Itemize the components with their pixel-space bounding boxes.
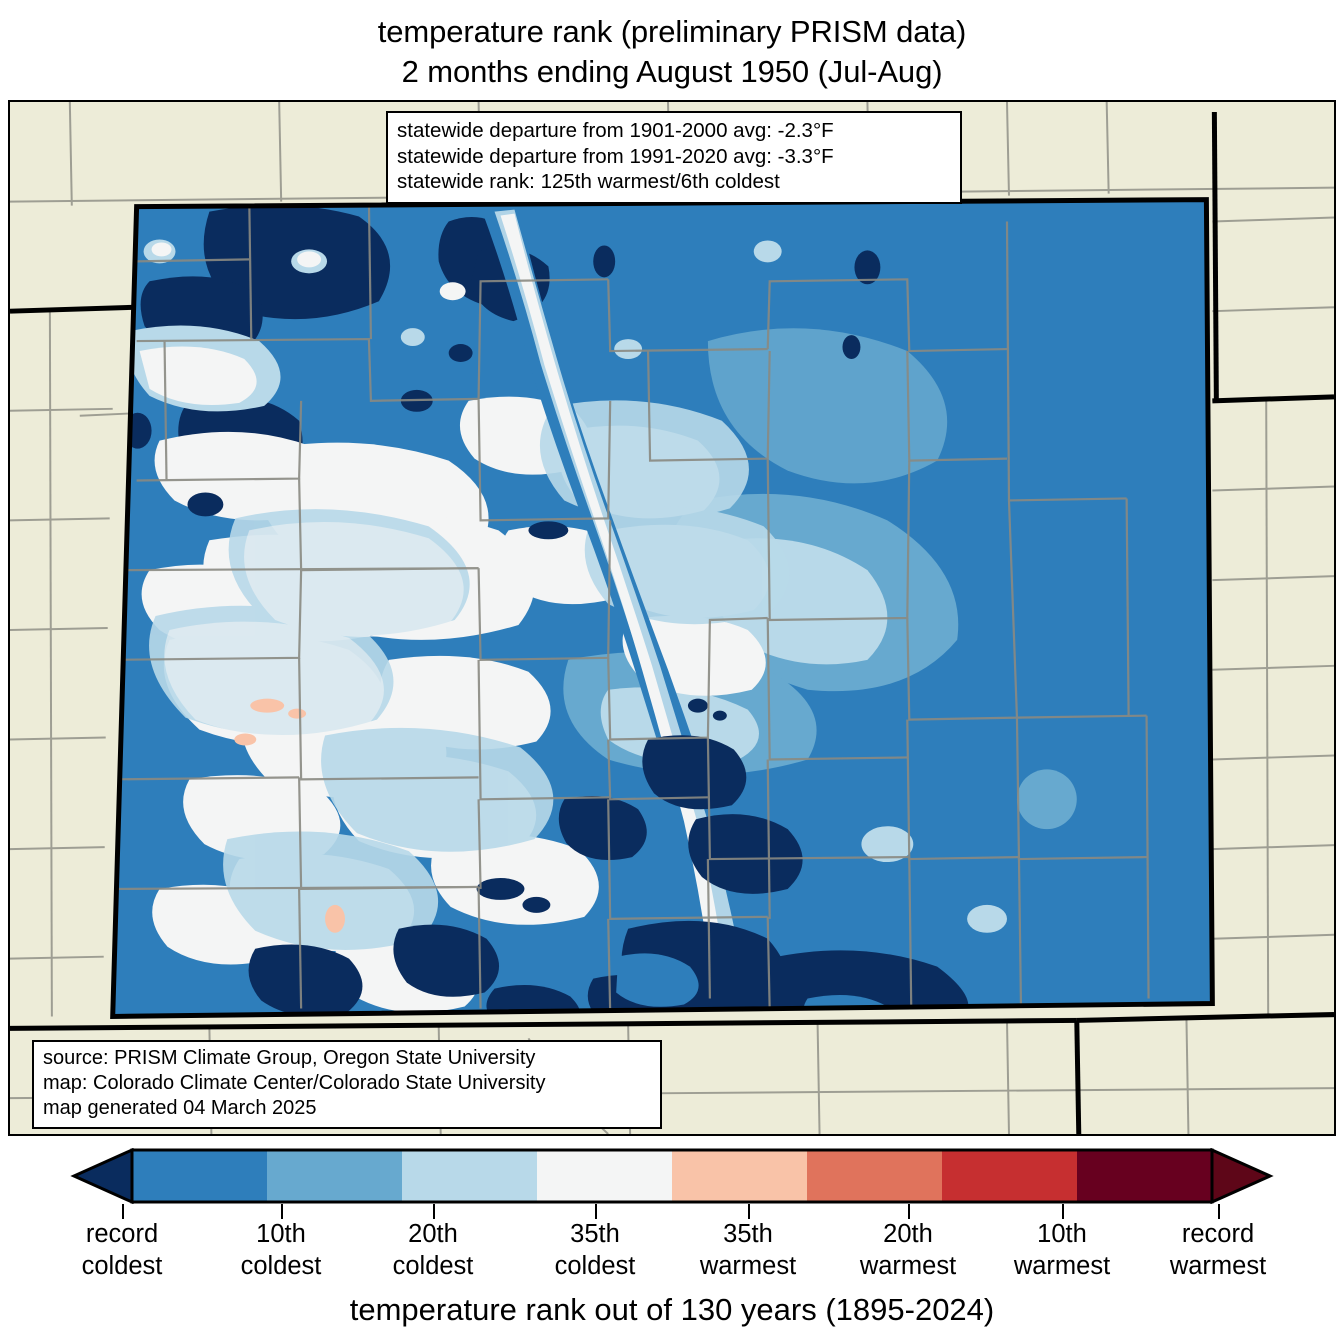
colorbar-label-7: recordwarmest bbox=[1133, 1218, 1303, 1282]
colorbar-label-bottom-0: coldest bbox=[37, 1250, 207, 1282]
colorbar-label-bottom-7: warmest bbox=[1133, 1250, 1303, 1282]
colorbar-label-top-3: 35th bbox=[510, 1218, 680, 1250]
colorbar-tick-labels: recordcoldest10thcoldest20thcoldest35thc… bbox=[0, 1218, 1344, 1288]
colorbar-swatch-0 bbox=[132, 1150, 268, 1202]
rank-raster bbox=[100, 192, 1227, 1029]
colorbar-label-bottom-1: coldest bbox=[196, 1250, 366, 1282]
map-credit-line: map: Colorado Climate Center/Colorado St… bbox=[43, 1071, 651, 1096]
colorbar-title: temperature rank out of 130 years (1895-… bbox=[0, 1292, 1344, 1328]
colorbar-swatch-2 bbox=[402, 1150, 538, 1202]
colorbar-tick-4 bbox=[748, 1204, 750, 1219]
colorbar-label-top-6: 10th bbox=[977, 1218, 1147, 1250]
colorbar-swatch-4 bbox=[672, 1150, 808, 1202]
colorbar-arrow-high bbox=[1212, 1150, 1270, 1202]
colorbar-label-top-4: 35th bbox=[663, 1218, 833, 1250]
colorbar-label-2: 20thcoldest bbox=[348, 1218, 518, 1282]
colorbar-swatch-3 bbox=[537, 1150, 673, 1202]
source-attribution-box: source: PRISM Climate Group, Oregon Stat… bbox=[32, 1040, 662, 1129]
colorbar-swatch-7 bbox=[1077, 1150, 1213, 1202]
colorbar-label-bottom-3: coldest bbox=[510, 1250, 680, 1282]
colorbar-label-bottom-2: coldest bbox=[348, 1250, 518, 1282]
colorbar-label-bottom-4: warmest bbox=[663, 1250, 833, 1282]
colorbar-label-bottom-5: warmest bbox=[823, 1250, 993, 1282]
colorbar-swatch-5 bbox=[807, 1150, 943, 1202]
colorbar-tick-6 bbox=[1062, 1204, 1064, 1219]
colorbar-tick-3 bbox=[595, 1204, 597, 1219]
departure-1991-2020: statewide departure from 1991-2020 avg: … bbox=[397, 144, 951, 170]
page-title: temperature rank (preliminary PRISM data… bbox=[0, 12, 1344, 92]
colorbar-tick-7 bbox=[1218, 1204, 1220, 1219]
title-line-1: temperature rank (preliminary PRISM data… bbox=[0, 12, 1344, 52]
colorbar-tick-1 bbox=[281, 1204, 283, 1219]
colorbar-label-6: 10thwarmest bbox=[977, 1218, 1147, 1282]
colorbar-label-4: 35thwarmest bbox=[663, 1218, 833, 1282]
statewide-stats-box: statewide departure from 1901-2000 avg: … bbox=[386, 111, 962, 204]
colorbar-label-5: 20thwarmest bbox=[823, 1218, 993, 1282]
colorbar-label-top-2: 20th bbox=[348, 1218, 518, 1250]
statewide-rank: statewide rank: 125th warmest/6th coldes… bbox=[397, 169, 951, 195]
colorbar-tick-5 bbox=[908, 1204, 910, 1219]
source-line: source: PRISM Climate Group, Oregon Stat… bbox=[43, 1046, 651, 1071]
colorado-temperature-rank-map[interactable] bbox=[10, 102, 1334, 1134]
title-line-2: 2 months ending August 1950 (Jul-Aug) bbox=[0, 52, 1344, 92]
colorbar-label-top-1: 10th bbox=[196, 1218, 366, 1250]
colorbar-label-top-0: record bbox=[37, 1218, 207, 1250]
colorbar-swatch-6 bbox=[942, 1150, 1078, 1202]
colorbar-label-0: recordcoldest bbox=[37, 1218, 207, 1282]
colorbar-arrow-low bbox=[74, 1150, 132, 1202]
map-frame[interactable] bbox=[8, 100, 1336, 1136]
colorbar-swatch-1 bbox=[267, 1150, 403, 1202]
map-generated-line: map generated 04 March 2025 bbox=[43, 1096, 651, 1121]
departure-1901-2000: statewide departure from 1901-2000 avg: … bbox=[397, 118, 951, 144]
colorbar-tick-2 bbox=[433, 1204, 435, 1219]
colorbar-legend: recordcoldest10thcoldest20thcoldest35thc… bbox=[0, 1148, 1344, 1332]
colorbar-tick-0 bbox=[122, 1204, 124, 1219]
colorbar-label-3: 35thcoldest bbox=[510, 1218, 680, 1282]
colorbar-label-top-5: 20th bbox=[823, 1218, 993, 1250]
colorbar-label-bottom-6: warmest bbox=[977, 1250, 1147, 1282]
colorbar-swatches bbox=[66, 1148, 1278, 1204]
colorbar-label-top-7: record bbox=[1133, 1218, 1303, 1250]
colorbar-label-1: 10thcoldest bbox=[196, 1218, 366, 1282]
